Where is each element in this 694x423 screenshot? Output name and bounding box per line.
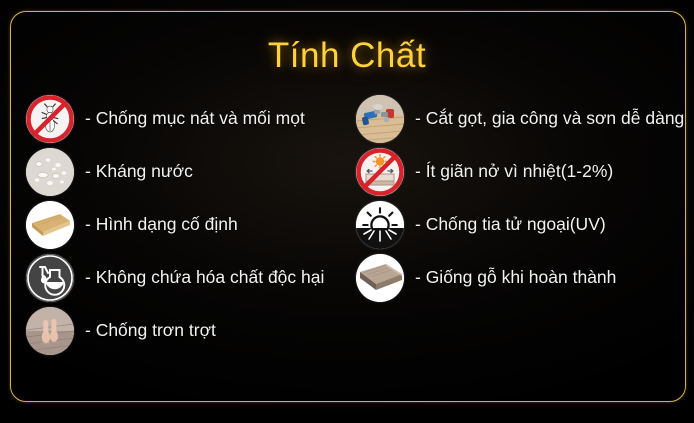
feature-label: - Giống gỗ khi hoàn thành bbox=[415, 267, 616, 288]
feature-label: - Ít giãn nở vì nhiệt(1-2%) bbox=[415, 161, 613, 182]
feature-label: - Cắt gọt, gia công và sơn dễ dàng bbox=[415, 108, 684, 129]
feature-label: - Không chứa hóa chất độc hại bbox=[85, 267, 324, 288]
bare-feet-deck-icon bbox=[26, 307, 74, 355]
feature-item: - Không chứa hóa chất độc hại bbox=[26, 251, 356, 304]
no-termite-icon bbox=[26, 95, 74, 143]
wood-board-icon bbox=[26, 201, 74, 249]
power-tool-cutting-icon bbox=[356, 95, 404, 143]
feature-item: - Giống gỗ khi hoàn thành bbox=[356, 251, 686, 304]
feature-item: - Chống tia tử ngoại(UV) bbox=[356, 198, 686, 251]
sun-uv-icon bbox=[356, 201, 404, 249]
chemical-flask-icon bbox=[26, 254, 74, 302]
page-title: Tính Chất bbox=[0, 36, 694, 76]
feature-label: - Hình dạng cố định bbox=[85, 214, 238, 235]
feature-label: - Chống tia tử ngoại(UV) bbox=[415, 214, 606, 235]
feature-item: - Hình dạng cố định bbox=[26, 198, 356, 251]
feature-item: - Chống trơn trợt bbox=[26, 304, 356, 357]
feature-item: - Chống mục nát và mối mọt bbox=[26, 92, 356, 145]
features-column-left: - Chống mục nát và mối mọt bbox=[26, 92, 356, 357]
feature-label: - Kháng nước bbox=[85, 161, 193, 182]
feature-label: - Chống mục nát và mối mọt bbox=[85, 108, 305, 129]
poster-root: Tính Chất bbox=[0, 0, 694, 423]
feature-item: - Ít giãn nở vì nhiệt(1-2%) bbox=[356, 145, 686, 198]
feature-item: - Cắt gọt, gia công và sơn dễ dàng bbox=[356, 92, 686, 145]
no-thermal-expansion-icon bbox=[356, 148, 404, 196]
features-column-right: - Cắt gọt, gia công và sơn dễ dàng bbox=[356, 92, 686, 304]
wood-plank-finish-icon bbox=[356, 254, 404, 302]
feature-label: - Chống trơn trợt bbox=[85, 320, 216, 341]
water-droplets-icon bbox=[26, 148, 74, 196]
feature-item: - Kháng nước bbox=[26, 145, 356, 198]
features-columns: - Chống mục nát và mối mọt bbox=[0, 92, 694, 392]
